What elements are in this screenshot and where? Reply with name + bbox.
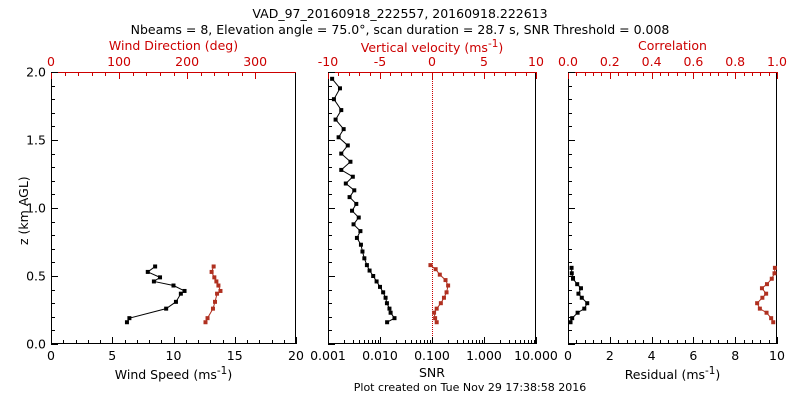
xtick-minor-top — [660, 72, 661, 76]
xtick-minor-bottom — [476, 340, 477, 344]
xtick-minor-bottom — [88, 340, 89, 344]
xticklabel-top: -10 — [318, 54, 338, 69]
xticklabel-top: 200 — [175, 54, 199, 69]
xticklabel-bottom: 10 — [166, 348, 182, 363]
ytick-minor — [568, 154, 572, 155]
xtick-minor-top — [593, 72, 594, 76]
ytick-minor — [568, 113, 572, 114]
xtick-major-bottom — [652, 337, 653, 344]
xtick-minor-top — [463, 72, 464, 76]
ytick-minor — [568, 99, 572, 100]
ytick-minor — [51, 181, 55, 182]
ytick-minor — [51, 167, 55, 168]
xtick-major-bottom — [174, 337, 175, 344]
ytick-minor — [328, 167, 332, 168]
ytick-major — [51, 140, 58, 141]
top-axis-label-wind: Wind Direction (deg) — [51, 38, 296, 53]
ytick-minor — [568, 86, 572, 87]
xtick-major-top — [735, 72, 736, 79]
xtick-minor-bottom — [63, 340, 64, 344]
yticklabel: 1.5 — [26, 133, 46, 148]
xtick-minor-top — [228, 72, 229, 76]
xtick-minor-top — [65, 72, 66, 76]
xtick-minor-top — [760, 72, 761, 76]
xtick-minor-bottom — [372, 340, 373, 344]
xtick-minor-bottom — [752, 340, 753, 344]
xtick-major-bottom — [296, 337, 297, 344]
xticklabel-bottom: 8 — [731, 348, 739, 363]
ytick-minor — [328, 249, 332, 250]
yticklabel: 0.5 — [26, 269, 46, 284]
xticklabel-top: 0 — [47, 54, 55, 69]
ytick-major — [51, 276, 58, 277]
xticklabel-bottom: 15 — [227, 348, 243, 363]
xtick-minor-top — [174, 72, 175, 76]
xtick-minor-bottom — [500, 340, 501, 344]
ytick-minor — [328, 235, 332, 236]
ytick-minor — [328, 99, 332, 100]
ytick-minor — [568, 249, 572, 250]
ytick-minor — [328, 154, 332, 155]
xtick-minor-top — [727, 72, 728, 76]
yticklabel: 2.0 — [26, 65, 46, 80]
xtick-minor-top — [474, 72, 475, 76]
xtick-minor-top — [718, 72, 719, 76]
ytick-minor — [51, 290, 55, 291]
xtick-minor-bottom — [100, 340, 101, 344]
xtick-minor-bottom — [149, 340, 150, 344]
ytick-minor — [568, 208, 572, 209]
ytick-minor — [51, 249, 55, 250]
xticklabel-top: 300 — [243, 54, 267, 69]
xtick-minor-bottom — [643, 340, 644, 344]
xtick-minor-top — [643, 72, 644, 76]
xtick-minor-top — [576, 72, 577, 76]
ytick-minor — [51, 262, 55, 263]
xticklabel-bottom: 0.001 — [310, 348, 346, 363]
xtick-minor-bottom — [161, 340, 162, 344]
xtick-minor-bottom — [284, 340, 285, 344]
xtick-minor-bottom — [198, 340, 199, 344]
xtick-major-top — [652, 72, 653, 79]
ytick-major — [328, 72, 335, 73]
ytick-minor — [328, 317, 332, 318]
xticklabel-top: 0.0 — [558, 54, 578, 69]
xtick-major-bottom — [112, 337, 113, 344]
xtick-minor-bottom — [405, 340, 406, 344]
xtick-minor-top — [160, 72, 161, 76]
xtick-minor-bottom — [457, 340, 458, 344]
xtick-major-bottom — [536, 337, 537, 344]
ytick-major — [51, 344, 58, 345]
xtick-minor-bottom — [420, 340, 421, 344]
xtick-major-top — [187, 72, 188, 79]
xtick-minor-top — [601, 72, 602, 76]
xtick-minor-bottom — [353, 340, 354, 344]
ytick-minor — [568, 126, 572, 127]
xticklabel-bottom: 1.000 — [466, 348, 502, 363]
xtick-minor-top — [752, 72, 753, 76]
xtick-minor-bottom — [247, 340, 248, 344]
xtick-minor-bottom — [76, 340, 77, 344]
xtick-minor-bottom — [576, 340, 577, 344]
xtick-minor-bottom — [375, 340, 376, 344]
xtick-minor-bottom — [272, 340, 273, 344]
xtick-major-top — [536, 72, 537, 79]
xtick-minor-top — [494, 72, 495, 76]
xtick-minor-bottom — [427, 340, 428, 344]
xticklabel-bottom: 20 — [288, 348, 304, 363]
xtick-minor-bottom — [769, 340, 770, 344]
ytick-minor — [328, 290, 332, 291]
xtick-minor-bottom — [593, 340, 594, 344]
xticklabel-bottom: 6 — [689, 348, 697, 363]
ytick-major — [328, 276, 335, 277]
ytick-minor — [328, 113, 332, 114]
ytick-minor — [568, 167, 572, 168]
bottom-axis-label-residual: Residual (ms-1) — [568, 365, 777, 382]
xtick-minor-top — [627, 72, 628, 76]
top-axis-label-residual: Correlation — [568, 38, 777, 53]
xtick-major-top — [328, 72, 329, 79]
xtick-minor-top — [338, 72, 339, 76]
xtick-minor-bottom — [702, 340, 703, 344]
ytick-minor — [328, 222, 332, 223]
xtick-minor-top — [685, 72, 686, 76]
xtick-minor-top — [359, 72, 360, 76]
xtick-minor-bottom — [411, 340, 412, 344]
xtick-minor-bottom — [760, 340, 761, 344]
xtick-major-top — [255, 72, 256, 79]
bottom-axis-label-snr: SNR — [328, 365, 536, 380]
ytick-minor — [51, 126, 55, 127]
plot-timestamp-footer: Plot created on Tue Nov 29 17:38:58 2016 — [0, 381, 800, 394]
xtick-minor-top — [618, 72, 619, 76]
ytick-major — [568, 140, 575, 141]
ytick-minor — [568, 194, 572, 195]
xtick-minor-bottom — [484, 340, 485, 344]
xticklabel-top: 0.4 — [642, 54, 662, 69]
xticklabel-bottom: 10.000 — [514, 348, 558, 363]
ytick-minor — [51, 317, 55, 318]
plot-panel-residual — [568, 72, 777, 344]
xtick-minor-bottom — [378, 340, 379, 344]
xtick-major-bottom — [568, 337, 569, 344]
xticklabel-bottom: 0.010 — [362, 348, 398, 363]
xtick-minor-top — [92, 72, 93, 76]
ytick-minor — [568, 317, 572, 318]
plot-timestamp: Plot created on Tue Nov 29 17:38:58 2016 — [354, 381, 586, 394]
xtick-minor-bottom — [359, 340, 360, 344]
ytick-minor — [328, 194, 332, 195]
xtick-minor-bottom — [668, 340, 669, 344]
xtick-minor-top — [515, 72, 516, 76]
xtick-minor-bottom — [534, 340, 535, 344]
ytick-minor — [328, 262, 332, 263]
xtick-minor-top — [710, 72, 711, 76]
xtick-minor-top — [78, 72, 79, 76]
xticklabel-bottom: 2 — [606, 348, 614, 363]
panel-top-axis-line — [568, 72, 777, 73]
ytick-major — [328, 344, 335, 345]
xtick-minor-bottom — [635, 340, 636, 344]
xtick-major-bottom — [777, 337, 778, 344]
xtick-minor-bottom — [210, 340, 211, 344]
figure-title-secondary: Nbeams = 8, Elevation angle = 75.0°, sca… — [0, 22, 800, 37]
ytick-minor — [328, 86, 332, 87]
xtick-minor-top — [505, 72, 506, 76]
xtick-minor-top — [769, 72, 770, 76]
xtick-minor-top — [585, 72, 586, 76]
ytick-major — [51, 72, 58, 73]
ytick-minor — [51, 208, 55, 209]
xtick-minor-top — [214, 72, 215, 76]
xtick-minor-top — [349, 72, 350, 76]
xtick-minor-top — [677, 72, 678, 76]
xtick-minor-bottom — [125, 340, 126, 344]
xtick-minor-top — [526, 72, 527, 76]
xtick-minor-top — [635, 72, 636, 76]
xticklabel-top: 0.6 — [683, 54, 703, 69]
ytick-minor — [51, 222, 55, 223]
ytick-minor — [51, 154, 55, 155]
ytick-minor — [568, 303, 572, 304]
xtick-minor-bottom — [468, 340, 469, 344]
xtick-major-bottom — [735, 337, 736, 344]
xtick-major-top — [610, 72, 611, 79]
xticklabel-bottom: 0.100 — [414, 348, 450, 363]
ytick-minor — [568, 235, 572, 236]
ytick-minor — [328, 181, 332, 182]
xtick-minor-bottom — [137, 340, 138, 344]
xtick-minor-bottom — [424, 340, 425, 344]
xtick-minor-top — [201, 72, 202, 76]
xtick-minor-top — [442, 72, 443, 76]
xticklabel-top: 10 — [528, 54, 544, 69]
ytick-major — [568, 276, 575, 277]
xtick-minor-bottom — [660, 340, 661, 344]
xtick-major-top — [380, 72, 381, 79]
xtick-minor-bottom — [685, 340, 686, 344]
xticklabel-top: 5 — [480, 54, 488, 69]
xtick-minor-bottom — [744, 340, 745, 344]
xticklabel-bottom: 0 — [564, 348, 572, 363]
xtick-minor-bottom — [463, 340, 464, 344]
ytick-minor — [568, 330, 572, 331]
xtick-minor-bottom — [618, 340, 619, 344]
xtick-minor-bottom — [344, 340, 345, 344]
xtick-minor-bottom — [259, 340, 260, 344]
xtick-minor-bottom — [718, 340, 719, 344]
top-axis-label-snr: Vertical velocity (ms-1) — [328, 38, 536, 55]
xtick-minor-bottom — [627, 340, 628, 344]
xtick-minor-top — [146, 72, 147, 76]
xticklabel-top: -5 — [374, 54, 386, 69]
ytick-major — [568, 72, 575, 73]
xtick-minor-top — [370, 72, 371, 76]
xticklabel-top: 0.8 — [725, 54, 745, 69]
xticklabel-top: 0.2 — [600, 54, 620, 69]
xtick-minor-bottom — [416, 340, 417, 344]
ytick-minor — [328, 208, 332, 209]
vad-profile-figure: VAD_97_20160918_222557, 20160918.222613 … — [0, 0, 800, 400]
xticklabel-bottom: 10 — [769, 348, 785, 363]
bottom-axis-label-wind: Wind Speed (ms-1) — [51, 365, 296, 382]
ytick-minor — [328, 126, 332, 127]
xtick-minor-top — [242, 72, 243, 76]
ytick-minor — [51, 99, 55, 100]
xtick-minor-bottom — [524, 340, 525, 344]
xticklabel-top: 0 — [428, 54, 436, 69]
xtick-minor-top — [411, 72, 412, 76]
xtick-minor-bottom — [380, 340, 381, 344]
xticklabel-top: 1.0 — [767, 54, 787, 69]
ytick-minor — [51, 235, 55, 236]
ytick-minor — [568, 181, 572, 182]
ytick-minor — [568, 262, 572, 263]
xtick-minor-bottom — [368, 340, 369, 344]
ytick-minor — [51, 113, 55, 114]
xtick-minor-bottom — [448, 340, 449, 344]
xtick-minor-bottom — [677, 340, 678, 344]
xtick-minor-top — [702, 72, 703, 76]
xtick-major-top — [568, 72, 569, 79]
ytick-minor — [328, 303, 332, 304]
xtick-minor-top — [744, 72, 745, 76]
xticklabel-bottom: 5 — [108, 348, 116, 363]
yticklabel: 0.0 — [26, 337, 46, 352]
xtick-minor-top — [401, 72, 402, 76]
figure-title-primary: VAD_97_20160918_222557, 20160918.222613 — [0, 6, 800, 21]
xtick-minor-bottom — [364, 340, 365, 344]
xtick-minor-top — [105, 72, 106, 76]
xtick-minor-bottom — [601, 340, 602, 344]
xtick-major-top — [432, 72, 433, 79]
xtick-minor-top — [390, 72, 391, 76]
xtick-major-top — [51, 72, 52, 79]
xtick-minor-top — [453, 72, 454, 76]
xtick-minor-top — [422, 72, 423, 76]
xticklabel-top: 100 — [107, 54, 131, 69]
xtick-major-bottom — [693, 337, 694, 344]
xtick-minor-bottom — [528, 340, 529, 344]
xtick-minor-bottom — [520, 340, 521, 344]
xtick-major-bottom — [328, 337, 329, 344]
xtick-minor-bottom — [430, 340, 431, 344]
xtick-minor-bottom — [223, 340, 224, 344]
ytick-minor — [51, 303, 55, 304]
xtick-minor-bottom — [509, 340, 510, 344]
xtick-minor-top — [133, 72, 134, 76]
xtick-minor-bottom — [186, 340, 187, 344]
xtick-minor-bottom — [482, 340, 483, 344]
xtick-minor-bottom — [432, 340, 433, 344]
ytick-major — [568, 344, 575, 345]
xtick-minor-top — [668, 72, 669, 76]
ytick-minor — [328, 330, 332, 331]
xtick-major-bottom — [610, 337, 611, 344]
ytick-minor — [51, 330, 55, 331]
xtick-major-bottom — [235, 337, 236, 344]
xtick-minor-bottom — [585, 340, 586, 344]
xtick-minor-bottom — [396, 340, 397, 344]
xticklabel-bottom: 4 — [648, 348, 656, 363]
xtick-minor-bottom — [479, 340, 480, 344]
ytick-minor — [568, 222, 572, 223]
xtick-major-top — [777, 72, 778, 79]
y-axis-label: z (km AGL) — [16, 176, 31, 245]
ytick-major — [328, 140, 335, 141]
xtick-minor-bottom — [710, 340, 711, 344]
zero-reference-line — [432, 72, 433, 344]
xtick-major-top — [693, 72, 694, 79]
xtick-major-bottom — [51, 337, 52, 344]
ytick-minor — [51, 194, 55, 195]
xtick-minor-bottom — [727, 340, 728, 344]
plot-panel-wind — [51, 72, 296, 344]
xticklabel-bottom: 0 — [47, 348, 55, 363]
xtick-minor-bottom — [515, 340, 516, 344]
xtick-major-top — [119, 72, 120, 79]
xtick-major-top — [484, 72, 485, 79]
ytick-minor — [568, 290, 572, 291]
ytick-minor — [51, 86, 55, 87]
xtick-minor-bottom — [472, 340, 473, 344]
xtick-minor-bottom — [531, 340, 532, 344]
